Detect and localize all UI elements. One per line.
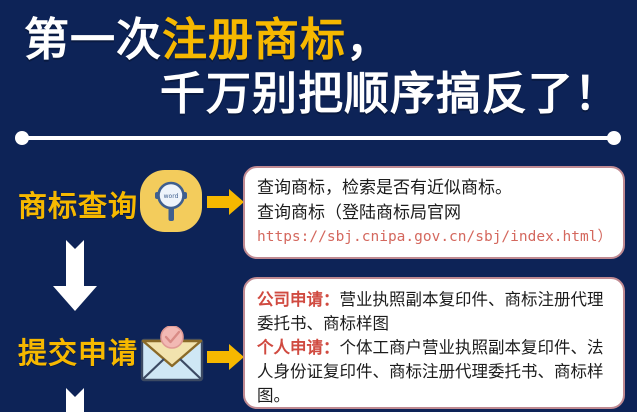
title-line1-highlight: 注册商标 [162,13,346,66]
magnifier-icon: word [140,170,202,232]
arrow-right-icon-2 [207,342,245,372]
info-card-2: 公司申请：营业执照副本复印件、商标注册代理委托书、商标样图 个人申请：个体工商户… [243,277,625,409]
title-line1-part1: 第一次 [24,13,162,66]
title-block: 第一次注册商标， 千万别把顺序搞反了！ [0,8,637,123]
info-card-1: 查询商标，检索是否有近似商标。 查询商标（登陆商标局官网 https://sbj… [243,166,625,259]
step-label-2: 提交申请 [18,330,138,372]
infographic-poster: 第一次注册商标， 千万别把顺序搞反了！ 商标查询 word 查询商标，检索是否有… [0,0,637,412]
card-1-url-text[interactable]: https://sbj.cnipa.gov.cn/sbj/index.html [257,229,597,245]
card-2-paragraph-2: 个人申请：个体工商户营业执照副本复印件、法人身份证复印件、商标注册代理委托书、商… [257,336,613,408]
title-line-1: 第一次注册商标， [24,12,392,68]
divider-dot-right-icon [607,131,621,145]
title-line1-part2: ， [346,13,392,66]
card-1-url[interactable]: https://sbj.cnipa.gov.cn/sbj/index.html） [257,226,613,249]
step-label-1: 商标查询 [18,183,138,225]
divider [22,136,614,140]
card-2-tag-company: 公司申请： [257,290,340,309]
svg-text:word: word [164,193,179,200]
title-line-2: 千万别把顺序搞反了！ [160,66,620,122]
envelope-icon [138,326,206,386]
arrow-down-icon-2 [52,388,98,412]
card-1-line-2: 查询商标（登陆商标局官网 [257,201,613,226]
arrow-right-icon-1 [207,187,245,217]
card-2-tag-individual: 个人申请： [257,338,340,357]
divider-dot-left-icon [15,131,29,145]
card-2-paragraph-1: 公司申请：营业执照副本复印件、商标注册代理委托书、商标样图 [257,288,613,336]
card-1-url-suffix: ） [597,229,612,245]
card-1-line-1: 查询商标，检索是否有近似商标。 [257,176,613,201]
arrow-down-icon-1 [52,240,98,312]
